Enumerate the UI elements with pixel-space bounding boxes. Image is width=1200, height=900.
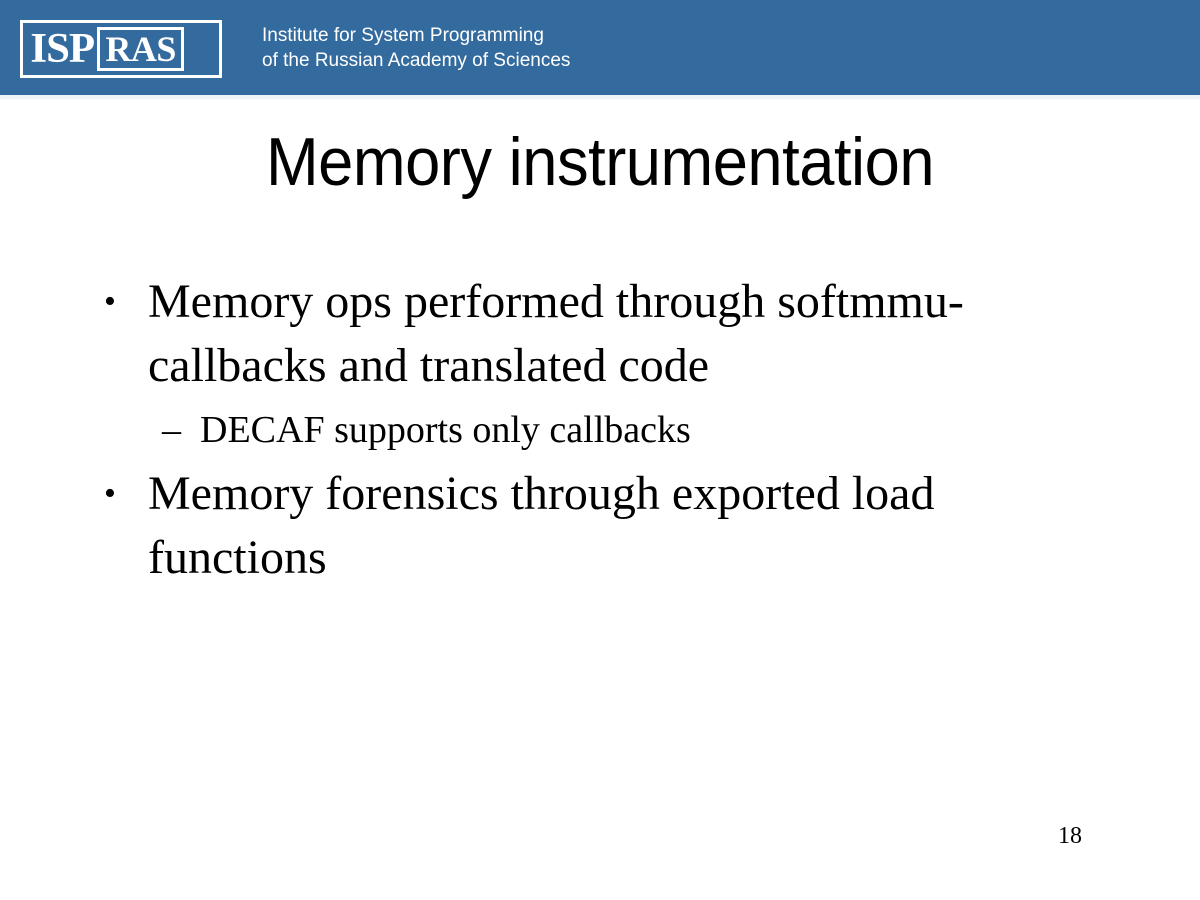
- page-number: 18: [1040, 822, 1100, 850]
- slide-title: Memory instrumentation: [42, 126, 1158, 198]
- bullet-marker-icon: •: [104, 462, 116, 526]
- slide: ISP RAS Institute for System Programming…: [0, 0, 1200, 900]
- sub-bullet-text: DECAF supports only callbacks: [200, 409, 691, 451]
- institute-name: Institute for System Programming of the …: [262, 23, 570, 73]
- dash-marker-icon: –: [162, 402, 181, 458]
- logo-ras-text: RAS: [105, 31, 176, 67]
- header-underline: [0, 95, 1200, 99]
- bullet-text: Memory ops performed through softmmu-cal…: [148, 275, 964, 392]
- bullet-marker-icon: •: [104, 270, 116, 334]
- ispras-logo: ISP RAS: [20, 20, 222, 78]
- bullet-text: Memory forensics through exported load f…: [148, 467, 934, 584]
- bullet-item: • Memory ops performed through softmmu-c…: [100, 270, 1110, 398]
- logo-isp-text: ISP: [22, 28, 96, 70]
- slide-body: • Memory ops performed through softmmu-c…: [100, 270, 1110, 594]
- bullet-item: • Memory forensics through exported load…: [100, 462, 1110, 590]
- sub-bullet-item: – DECAF supports only callbacks: [100, 402, 1110, 458]
- logo-ras-box: RAS: [97, 27, 184, 71]
- institute-line-2: of the Russian Academy of Sciences: [262, 48, 570, 73]
- institute-line-1: Institute for System Programming: [262, 23, 570, 48]
